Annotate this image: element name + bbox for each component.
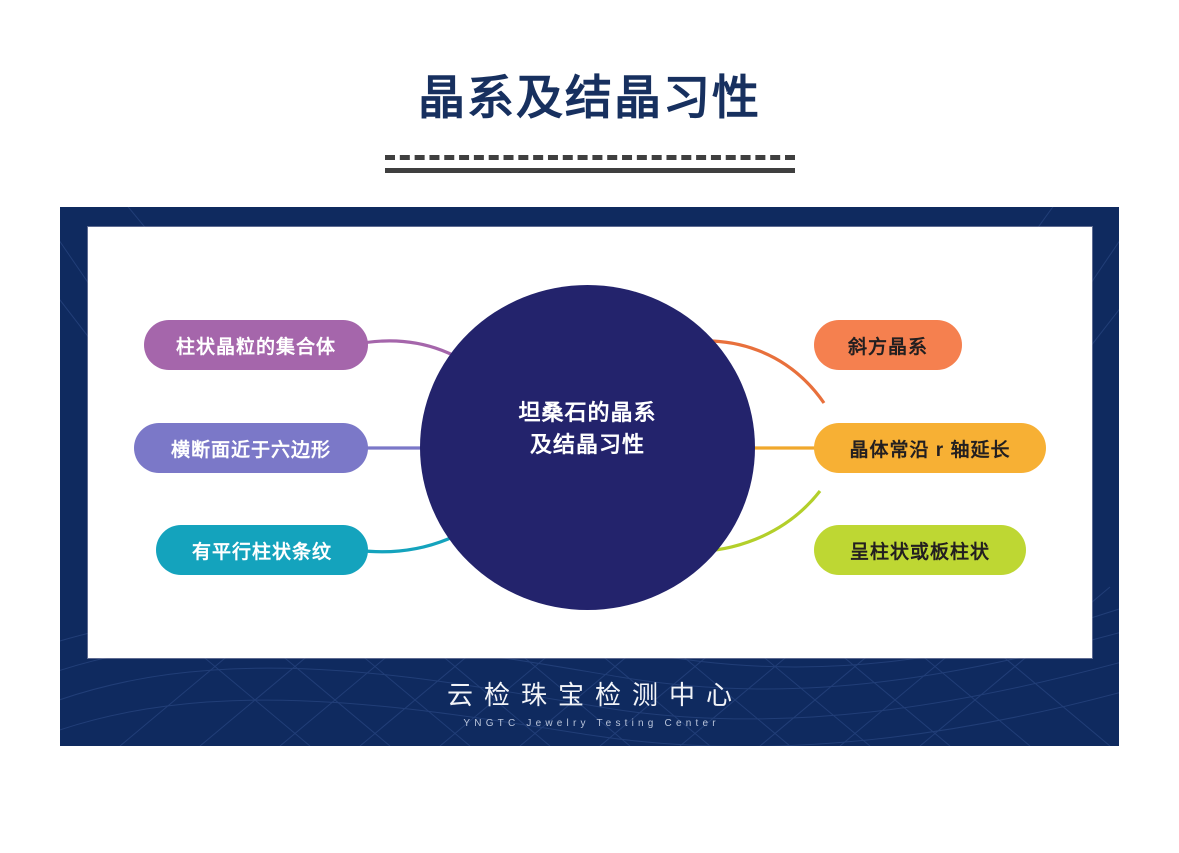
branch-right-3[interactable]: 呈柱状或板柱状 — [814, 525, 1026, 575]
hub-node[interactable]: 坦桑石的晶系 及结晶习性 — [420, 285, 755, 610]
branch-left-3[interactable]: 有平行柱状条纹 — [156, 525, 368, 575]
divider-solid-line — [385, 168, 795, 173]
navy-card-frame: 坦桑石的晶系 及结晶习性 柱状晶粒的集合体 横断面近于六边形 有平行柱状条纹 斜… — [60, 207, 1119, 746]
branch-left-3-label: 有平行柱状条纹 — [192, 537, 332, 564]
page-title: 晶系及结晶习性 — [0, 72, 1179, 124]
footer-name-en: YNGTC Jewelry Testing Center — [459, 718, 720, 729]
footer-branding: 云检珠宝检测中心 YNGTC Jewelry Testing Center — [60, 658, 1119, 746]
branch-left-1-label: 柱状晶粒的集合体 — [176, 332, 336, 359]
branch-right-2[interactable]: 晶体常沿 r 轴延长 — [814, 423, 1046, 473]
divider-dashed-line — [385, 155, 795, 160]
branch-right-1[interactable]: 斜方晶系 — [814, 320, 962, 370]
branch-right-3-label: 呈柱状或板柱状 — [850, 537, 990, 564]
branch-left-2[interactable]: 横断面近于六边形 — [134, 423, 368, 473]
branch-right-1-label: 斜方晶系 — [848, 332, 928, 359]
branch-left-2-label: 横断面近于六边形 — [171, 435, 331, 462]
hub-label: 坦桑石的晶系 及结晶习性 — [420, 397, 755, 461]
white-content-panel: 坦桑石的晶系 及结晶习性 柱状晶粒的集合体 横断面近于六边形 有平行柱状条纹 斜… — [88, 227, 1092, 658]
branch-right-2-label: 晶体常沿 r 轴延长 — [850, 435, 1011, 462]
title-divider — [385, 155, 795, 177]
mind-map-diagram: 坦桑石的晶系 及结晶习性 柱状晶粒的集合体 横断面近于六边形 有平行柱状条纹 斜… — [88, 227, 1092, 658]
footer-name-cn: 云检珠宝检测中心 — [436, 675, 743, 712]
branch-left-1[interactable]: 柱状晶粒的集合体 — [144, 320, 368, 370]
